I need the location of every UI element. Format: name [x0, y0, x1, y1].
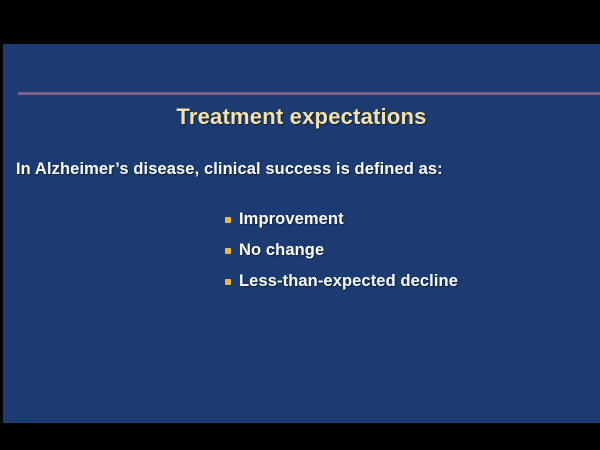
list-item: No change [225, 235, 458, 266]
list-item-label: No change [239, 241, 324, 260]
bullet-list: Improvement No change Less-than-expected… [225, 204, 458, 297]
page-title: Treatment expectations [3, 104, 600, 130]
bullet-dot-icon [225, 217, 231, 223]
list-item: Less-than-expected decline [225, 266, 458, 297]
bullet-dot-icon [225, 248, 231, 254]
list-item-label: Improvement [239, 210, 344, 229]
slide-frame: Treatment expectations In Alzheimer’s di… [0, 0, 600, 450]
title-divider [18, 92, 600, 95]
bullet-dot-icon [225, 279, 231, 285]
lead-statement: In Alzheimer’s disease, clinical success… [16, 160, 443, 179]
list-item: Improvement [225, 204, 458, 235]
list-item-label: Less-than-expected decline [239, 272, 458, 291]
slide-panel: Treatment expectations In Alzheimer’s di… [3, 44, 600, 423]
